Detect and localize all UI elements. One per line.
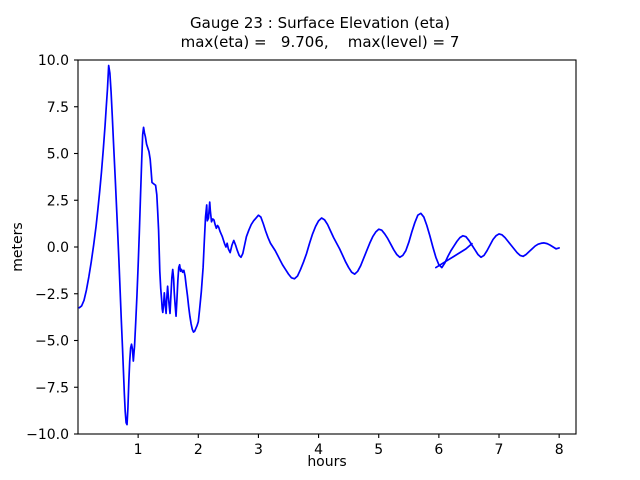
figure-canvas: Gauge 23 : Surface Elevation (eta) max(e… bbox=[0, 0, 640, 480]
y-tick-label: 0.0 bbox=[47, 240, 69, 256]
y-tick-label: −10.0 bbox=[26, 427, 69, 443]
plot-area: −10.0−7.5−5.0−2.50.02.55.07.510.01234567… bbox=[0, 0, 640, 480]
axes bbox=[78, 60, 576, 434]
y-tick-label: −2.5 bbox=[35, 287, 69, 303]
data-series bbox=[79, 66, 559, 425]
x-tick-label: 2 bbox=[194, 442, 203, 458]
y-axis-label: meters bbox=[10, 222, 26, 271]
x-tick-label: 6 bbox=[434, 442, 443, 458]
x-axis-label: hours bbox=[307, 454, 346, 470]
y-tick-label: 5.0 bbox=[47, 147, 69, 163]
y-tick-label: 10.0 bbox=[38, 53, 69, 69]
x-tick-label: 1 bbox=[134, 442, 143, 458]
axes-frame bbox=[78, 60, 576, 434]
y-tick-label: 2.5 bbox=[47, 193, 69, 209]
y-tick-label: −7.5 bbox=[35, 380, 69, 396]
x-tick-label: 3 bbox=[254, 442, 263, 458]
data-line-eta bbox=[79, 66, 559, 425]
y-tick-label: −5.0 bbox=[35, 334, 69, 350]
x-tick-label: 8 bbox=[555, 442, 564, 458]
tick-marks bbox=[74, 60, 559, 438]
x-tick-label: 7 bbox=[495, 442, 504, 458]
x-tick-label: 5 bbox=[374, 442, 383, 458]
y-tick-label: 7.5 bbox=[47, 100, 69, 116]
